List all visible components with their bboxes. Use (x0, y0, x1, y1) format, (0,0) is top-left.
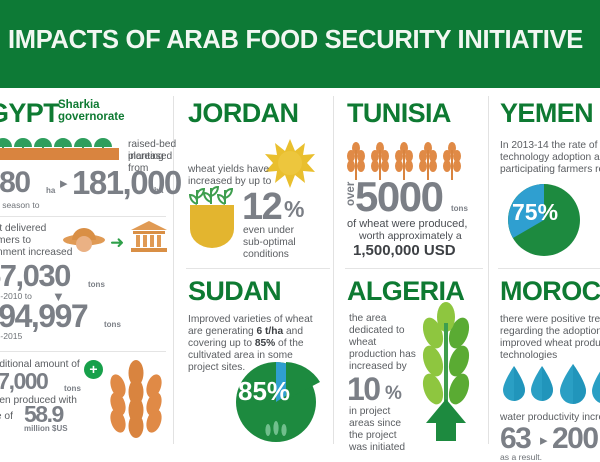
egypt-additional-tons-unit: tons (64, 384, 81, 393)
sudan-text-line1: Improved varieties of wheat (188, 314, 313, 326)
egypt-raised-bed-unit-to: ha (154, 186, 163, 195)
jordan-text-line1: wheat yields have (188, 164, 269, 176)
jordan-after-line3: conditions (243, 249, 289, 261)
egypt-wheat-unit-to: tons (104, 320, 121, 329)
country-column-yemen-morocco: YEMEN In 2013-14 the rate of technology … (492, 88, 600, 450)
egypt-wheat-delivered-line2: armers to (0, 235, 31, 247)
country-column-egypt: GYPT Sharkia governorate (0, 88, 172, 450)
plus-badge-icon: + (84, 360, 103, 379)
algeria-after-line3: the project (349, 430, 397, 442)
algeria-after-line4: was initiated (349, 442, 405, 454)
country-title-algeria: ALGERIA (347, 278, 464, 305)
morocco-text-line1: there were positive trends (500, 314, 600, 326)
morocco-arrow-icon: ▸ (540, 433, 548, 448)
algeria-after-line1: in project (349, 406, 390, 418)
egypt-raised-bed-footnote: first season to (0, 200, 40, 210)
country-column-jordan-sudan: JORDAN wheat yields have increased by up… (176, 88, 332, 450)
egypt-additional-usd: 58.9 (24, 403, 63, 426)
sudan-line3-c: of the (275, 338, 303, 349)
algeria-value-unit: % (385, 384, 400, 403)
country-column-tunisia-algeria: TUNISIA (337, 88, 487, 450)
algeria-after-line2: areas since (349, 418, 401, 430)
country-title-morocco: MOROCC (500, 278, 600, 305)
header-bar: IMPACTS OF ARAB FOOD SECURITY INITIATIVE (0, 0, 600, 88)
sudan-line2-a: are generating (188, 326, 257, 337)
yemen-morocco-divider (498, 268, 600, 269)
yemen-text-line2: technology adoption among (500, 152, 600, 164)
tunisia-text-line2: worth approximately a (359, 230, 462, 242)
sudan-text-line3: covering up to 85% of the (188, 338, 304, 350)
yemen-text-line1: In 2013-14 the rate of (500, 140, 597, 152)
sudan-line2-b: 6 t/ha (257, 326, 284, 337)
sudan-line3-a: covering up to (188, 338, 255, 349)
tunisia-algeria-divider (345, 268, 483, 269)
morocco-text-line2: regarding the adoption of (500, 326, 600, 338)
page-title: IMPACTS OF ARAB FOOD SECURITY INITIATIVE (8, 26, 583, 55)
jordan-value: 12 (242, 188, 281, 226)
egypt-additional-usd-unit: million $US (24, 424, 68, 433)
country-title-tunisia: TUNISIA (347, 100, 451, 127)
country-title-yemen: YEMEN (500, 100, 593, 127)
green-arrow-icon: ➜ (110, 234, 124, 251)
algeria-text-line4: production has (349, 349, 416, 361)
country-title-egypt: GYPT (0, 100, 59, 127)
algeria-text-line3: wheat (349, 337, 376, 349)
egypt-raised-bed-value-from: 080 (0, 168, 30, 198)
tunisia-text-line3: 1,500,000 USD (353, 242, 456, 259)
egypt-wheat-period-to: 014-2015 (0, 331, 22, 341)
egypt-governorate-line2: governorate (58, 111, 124, 124)
sudan-line2-c: and (283, 326, 303, 337)
egypt-raised-bed-arrow-icon: ▸ (60, 176, 68, 191)
egypt-wheat-delivered-line1: eat delivered (0, 223, 46, 235)
sudan-text-line2: are generating 6 t/ha and (188, 326, 303, 338)
morocco-text-line3: improved wheat production (500, 338, 600, 350)
yemen-text-line3: participating farmers reache (500, 164, 600, 176)
tunisia-value-unit: tons (451, 204, 468, 213)
egypt-additional-tons: 77,000 (0, 370, 47, 393)
sudan-pie-label: 85% (238, 378, 290, 404)
tunisia-text-line1: of wheat were produced, (347, 218, 467, 230)
infographic-page: IMPACTS OF ARAB FOOD SECURITY INITIATIVE… (0, 0, 600, 450)
algeria-value: 10 (347, 373, 380, 405)
egypt-wheat-unit-from: tons (88, 280, 105, 289)
egypt-raised-bed-value-to: 181,000 (72, 166, 181, 199)
egypt-divider-2 (0, 351, 166, 352)
egypt-additional-line3: lue of (0, 411, 13, 423)
morocco-footnote: as a result. (500, 452, 542, 462)
egypt-governorate-line1: Sharkia (58, 99, 100, 112)
morocco-text-line4: technologies (500, 350, 557, 362)
column-divider-2 (333, 96, 334, 444)
algeria-text-line2: dedicated to (349, 325, 405, 337)
column-divider-3 (488, 96, 489, 444)
egypt-wheat-value-to: 094,997 (0, 300, 87, 332)
egypt-divider-1 (0, 216, 166, 217)
infographic-body: GYPT Sharkia governorate (0, 88, 600, 450)
algeria-text-line1: the area (349, 313, 386, 325)
egypt-raised-bed-unit-from: ha (46, 186, 55, 195)
jordan-value-unit: % (284, 198, 303, 221)
country-title-jordan: JORDAN (188, 100, 298, 127)
sudan-line3-b: 85% (255, 338, 275, 349)
yemen-pie-label: 75% (512, 201, 558, 224)
jordan-after-line1: even under (243, 225, 294, 237)
tunisia-value: 5000 (355, 176, 442, 218)
jordan-sudan-divider (186, 268, 330, 269)
jordan-after-line2: sub-optimal (243, 237, 296, 249)
country-title-sudan: SUDAN (188, 278, 281, 305)
egypt-wheat-value-from: 57,030 (0, 260, 70, 291)
